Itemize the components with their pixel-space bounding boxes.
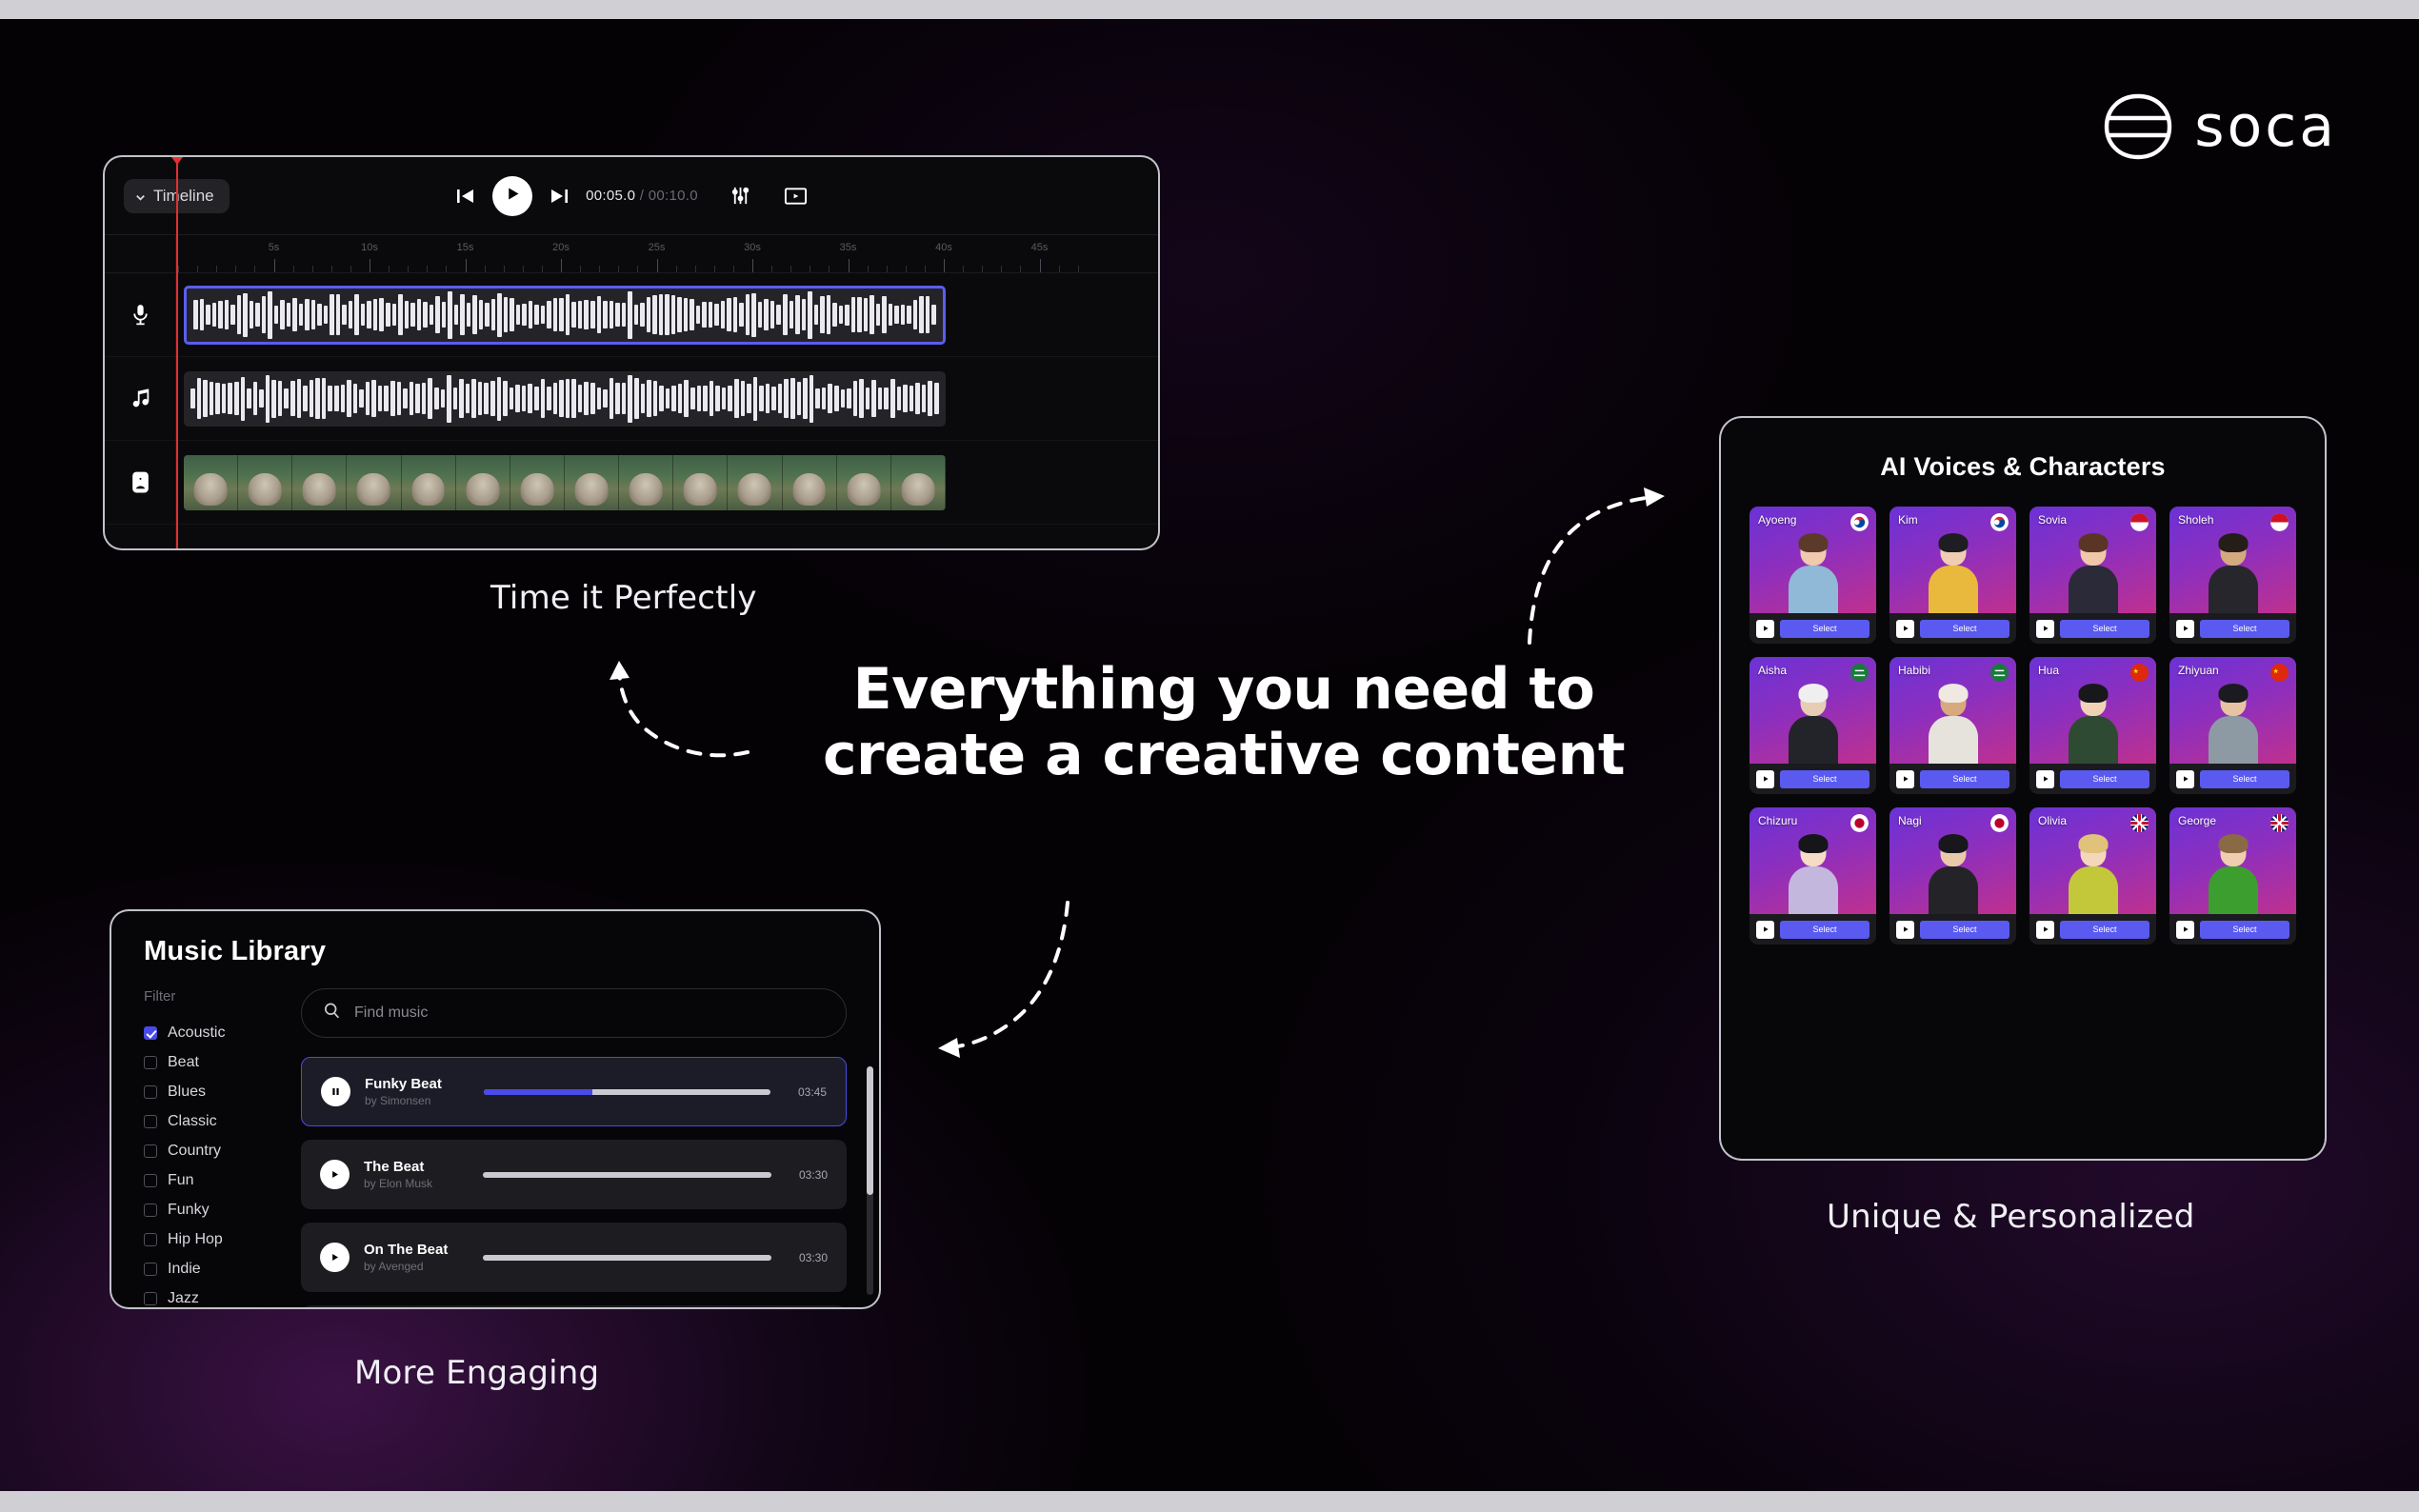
avatar-hair	[1798, 533, 1828, 552]
ruler-tick-minor	[312, 266, 313, 272]
avatar-body	[2209, 566, 2258, 613]
waveform-bar	[371, 380, 376, 418]
waveform-bar	[828, 384, 832, 413]
avatar	[1749, 531, 1876, 613]
timeline-toggle-label: Timeline	[153, 187, 214, 206]
voice-character-name: Ayoeng	[1758, 513, 1796, 527]
checkbox-icon[interactable]	[144, 1056, 157, 1069]
voice-character-name: Aisha	[1758, 664, 1787, 677]
voice-character-card[interactable]: AyoengSelect	[1749, 507, 1876, 644]
select-button[interactable]: Select	[1920, 620, 2009, 638]
filter-list: AcousticBeatBluesClassicCountryFunFunkyH…	[144, 1018, 301, 1309]
avatar-hair	[1938, 684, 1968, 703]
waveform-bar	[926, 296, 930, 334]
waveform-bar	[553, 298, 558, 332]
checkbox-icon[interactable]	[144, 1263, 157, 1276]
ruler-tick-minor	[733, 266, 734, 272]
select-button[interactable]: Select	[2200, 921, 2289, 939]
voice-character-card[interactable]: OliviaSelect	[2029, 807, 2156, 945]
select-button[interactable]: Select	[1780, 620, 1869, 638]
music-track-row[interactable]: A Beatby Darwin03:30	[301, 1305, 847, 1309]
preview-play-button[interactable]	[2036, 620, 2054, 638]
waveform-bar	[386, 303, 390, 327]
waveform-bar	[864, 298, 869, 331]
waveform-bar	[703, 386, 708, 411]
clip-music[interactable]	[184, 371, 946, 427]
waveform-bar	[361, 304, 366, 326]
filmstrip-frame	[402, 455, 456, 510]
waveform-bar	[766, 384, 770, 413]
checkbox-icon[interactable]	[144, 1085, 157, 1099]
music-track-progress-fill	[484, 1089, 592, 1095]
ruler-tick-major	[274, 259, 275, 272]
playhead[interactable]	[176, 157, 178, 548]
waveform-bar	[255, 303, 260, 327]
clip-video[interactable]	[184, 455, 946, 510]
waveform-bar	[878, 388, 883, 409]
waveform-bar	[218, 301, 223, 329]
waveform-bar	[415, 384, 420, 413]
avatar	[1889, 832, 2016, 914]
waveform-bar	[784, 379, 789, 417]
preview-play-button[interactable]	[1756, 620, 1774, 638]
waveform-bar	[503, 381, 508, 415]
filter-item-label: Funky	[168, 1202, 210, 1219]
music-track-row[interactable]: On The Beatby Avenged03:30	[301, 1223, 847, 1292]
preview-play-button[interactable]	[2176, 770, 2194, 788]
waveform-bar	[640, 303, 645, 327]
filter-item[interactable]: Funky	[144, 1195, 301, 1224]
select-button[interactable]: Select	[1780, 770, 1869, 788]
country-flag-icon	[1990, 814, 2009, 832]
voice-character-name: Habibi	[1898, 664, 1930, 677]
waveform-bar	[665, 294, 670, 334]
filter-column: Filter AcousticBeatBluesClassicCountryFu…	[144, 988, 301, 1295]
ruler-tick-major	[561, 259, 562, 272]
avatar	[2169, 531, 2296, 613]
waveform-bar	[317, 304, 322, 326]
select-button[interactable]: Select	[2060, 770, 2149, 788]
track-column: Find music Funky Beatby Simonsen03:45The…	[301, 988, 879, 1295]
letterbox-top	[0, 0, 2419, 19]
preview-play-button[interactable]	[1896, 921, 1914, 939]
waveform-bar	[907, 306, 911, 324]
ruler-tick-minor	[982, 266, 983, 272]
waveform-bar	[697, 386, 702, 411]
lane-music[interactable]	[176, 357, 1158, 441]
voice-character-card[interactable]: AishaSelect	[1749, 657, 1876, 794]
lane-voice[interactable]	[176, 273, 1158, 357]
waveform-bar	[534, 387, 539, 409]
voice-character-card[interactable]: HuaSelect	[2029, 657, 2156, 794]
music-track-progress[interactable]	[483, 1255, 771, 1261]
avatar-hair	[2218, 834, 2248, 853]
checkbox-icon[interactable]	[144, 1144, 157, 1158]
waveform-bar	[529, 301, 533, 329]
waveform-bar	[328, 386, 332, 411]
waveform-bar	[491, 299, 496, 331]
waveform-bar	[890, 379, 895, 417]
preview-play-button[interactable]	[1756, 921, 1774, 939]
voice-card-actions: Select	[1889, 914, 2016, 945]
waveform-bar	[853, 381, 858, 417]
timeline-ruler[interactable]: 5s10s15s20s25s30s35s40s45s	[105, 235, 1158, 273]
page-title: Everything you need to create a creative…	[781, 657, 1667, 788]
music-track-progress[interactable]	[483, 1172, 771, 1178]
filter-item[interactable]: Country	[144, 1136, 301, 1165]
transport-controls: 00:05.0 / 00:10.0	[431, 176, 831, 216]
waveform-bar	[442, 302, 447, 328]
waveform-bar	[460, 294, 465, 334]
timeline-tracks	[105, 273, 1158, 548]
ruler-tick-minor	[580, 266, 581, 272]
play-button[interactable]	[320, 1160, 350, 1189]
arrow-to-voices-icon	[1514, 476, 1667, 647]
waveform-bar	[268, 291, 272, 339]
waveform-bar	[827, 295, 831, 334]
ruler-tick-minor	[197, 266, 198, 272]
waveform-bar	[603, 301, 608, 329]
play-button[interactable]	[492, 176, 532, 216]
avatar-body	[1929, 866, 1978, 914]
voice-card-actions: Select	[2029, 764, 2156, 794]
voice-card-actions: Select	[1749, 613, 1876, 644]
voice-character-card[interactable]: KimSelect	[1889, 507, 2016, 644]
waveform-bar	[715, 386, 720, 410]
ruler-tick-major	[370, 259, 370, 272]
play-button[interactable]	[320, 1243, 350, 1272]
waveform-bar	[714, 304, 719, 327]
music-scrollbar-thumb[interactable]	[867, 1066, 873, 1195]
voice-character-card[interactable]: SholehSelect	[2169, 507, 2296, 644]
waveform-bar	[428, 378, 432, 419]
preview-play-button[interactable]	[2176, 921, 2194, 939]
avatar-body	[1789, 716, 1838, 764]
filmstrip-frame	[673, 455, 728, 510]
waveform-bar	[324, 306, 329, 324]
waveform-bar	[876, 304, 881, 327]
waveform-bar	[193, 300, 198, 329]
filter-item[interactable]: Classic	[144, 1106, 301, 1136]
waveform-bar	[354, 294, 359, 335]
waveform-bar	[790, 378, 795, 420]
waveform-bar	[590, 383, 595, 413]
waveform-bar	[280, 300, 285, 329]
waveform-bar	[541, 306, 546, 324]
waveform-bar	[330, 294, 334, 334]
select-button[interactable]: Select	[1920, 770, 2009, 788]
waveform-bar	[472, 295, 477, 334]
ai-voices-grid: AyoengSelectKimSelectSoviaSelectSholehSe…	[1721, 507, 2325, 945]
waveform-bar	[522, 304, 527, 327]
waveform-bar	[652, 295, 657, 333]
select-button[interactable]: Select	[1780, 921, 1869, 939]
adjustments-icon[interactable]	[730, 185, 751, 207]
music-track-artist: by Avenged	[364, 1260, 469, 1273]
waveform-bar	[659, 386, 664, 411]
waveform-bar	[610, 378, 614, 420]
filter-item-label: Beat	[168, 1054, 199, 1071]
music-track-name: Funky Beat	[365, 1076, 470, 1092]
filter-item[interactable]: Hip Hop	[144, 1224, 301, 1254]
waveform-bar	[790, 301, 794, 329]
waveform-bar	[334, 386, 339, 411]
filter-item[interactable]: Indie	[144, 1254, 301, 1283]
avatar-hair	[1938, 834, 1968, 853]
ruler-tick-minor	[1078, 266, 1079, 272]
avatar	[1889, 682, 2016, 764]
arrow-to-timeline-icon	[571, 647, 752, 771]
waveform-bar	[378, 386, 383, 411]
waveform-bar	[690, 299, 694, 329]
music-track-row[interactable]: The Beatby Elon Musk03:30	[301, 1140, 847, 1209]
waveform-bar	[571, 302, 576, 327]
waveform-bar	[547, 301, 551, 328]
avatar-hair	[2078, 834, 2108, 853]
country-flag-icon	[2130, 664, 2149, 682]
checkbox-icon[interactable]	[144, 1115, 157, 1128]
voice-character-name: Hua	[2038, 664, 2059, 677]
ruler-tick-minor	[676, 266, 677, 272]
waveform-bar	[615, 303, 620, 327]
waveform-bar	[349, 301, 353, 329]
ruler-tick-label: 10s	[361, 242, 378, 253]
waveform-bar	[628, 375, 632, 423]
avatar-hair	[2078, 684, 2108, 703]
waveform-bar	[392, 304, 397, 325]
waveform-bar	[910, 386, 914, 412]
clip-voice[interactable]	[184, 286, 946, 345]
waveform-bar	[727, 298, 731, 332]
waveform-bar	[722, 388, 727, 409]
ruler-tick-major	[752, 259, 753, 272]
waveform-bar	[210, 382, 214, 416]
waveform-bar	[292, 298, 297, 331]
timecode-current: 00:05.0	[586, 188, 635, 204]
voice-card-actions: Select	[1749, 764, 1876, 794]
avatar	[1749, 832, 1876, 914]
checkbox-icon[interactable]	[144, 1026, 157, 1040]
waveform-bar	[467, 303, 471, 326]
voice-character-card[interactable]: ChizuruSelect	[1749, 807, 1876, 945]
brand-logo: soca	[2103, 91, 2337, 162]
waveform-bar	[814, 305, 819, 325]
filmstrip-frame	[837, 455, 891, 510]
voice-card-actions: Select	[2169, 613, 2296, 644]
waveform-bar	[253, 382, 258, 414]
waveform-bar	[247, 388, 251, 408]
select-button[interactable]: Select	[1920, 921, 2009, 939]
waveform-bar	[305, 299, 310, 330]
ruler-tick-minor	[599, 266, 600, 272]
waveform-bar	[882, 296, 887, 334]
country-flag-icon	[1850, 814, 1869, 832]
music-track-name: The Beat	[364, 1159, 469, 1175]
waveform-bar	[678, 384, 683, 412]
lane-video[interactable]	[176, 441, 1158, 525]
skip-forward-icon[interactable]	[549, 186, 570, 207]
waveform-bar	[215, 383, 220, 414]
voice-character-card[interactable]: SoviaSelect	[2029, 507, 2156, 644]
waveform-bar	[405, 301, 410, 329]
filter-label: Filter	[144, 988, 301, 1005]
waveform-bar	[262, 296, 267, 332]
waveform-bar	[471, 379, 476, 418]
select-button[interactable]: Select	[2060, 921, 2149, 939]
ruler-tick-minor	[1020, 266, 1021, 272]
voice-character-card[interactable]: NagiSelect	[1889, 807, 2016, 945]
waveform-bar	[753, 377, 758, 421]
skip-back-icon[interactable]	[455, 186, 476, 207]
music-track-duration: 03:30	[786, 1251, 828, 1264]
waveform-bar	[373, 299, 378, 329]
waveform-bar	[490, 381, 495, 416]
filter-item[interactable]: Acoustic	[144, 1018, 301, 1047]
avatar	[2169, 832, 2296, 914]
voice-card-actions: Select	[1749, 914, 1876, 945]
waveform-bar	[647, 380, 651, 418]
waveform-bar	[751, 293, 756, 337]
waveform-bar	[770, 301, 775, 328]
preview-play-button[interactable]	[2176, 620, 2194, 638]
waveform-bar	[410, 382, 414, 415]
track-icon-music[interactable]	[105, 357, 175, 441]
music-track-row[interactable]: Funky Beatby Simonsen03:45	[301, 1057, 847, 1126]
waveform-bar	[832, 303, 837, 327]
play-icon	[505, 186, 521, 207]
pause-button[interactable]	[321, 1077, 350, 1106]
checkbox-icon[interactable]	[144, 1174, 157, 1187]
waveform-bar	[746, 294, 750, 335]
filter-item[interactable]: Beat	[144, 1047, 301, 1077]
waveform-bar	[522, 386, 527, 411]
waveform-bar	[553, 383, 558, 415]
music-track-list: Funky Beatby Simonsen03:45The Beatby Elo…	[301, 1057, 847, 1309]
music-search-box[interactable]: Find music	[301, 988, 847, 1038]
waveform-bar	[741, 381, 746, 416]
filter-item[interactable]: Jazz	[144, 1283, 301, 1309]
waveform-bar	[310, 380, 314, 416]
waveform-bar	[684, 298, 689, 331]
preview-play-button[interactable]	[1756, 770, 1774, 788]
avatar-body	[1929, 716, 1978, 764]
track-icon-video[interactable]	[105, 441, 175, 525]
waveform-bar	[913, 300, 918, 330]
voice-character-preview: Ayoeng	[1749, 507, 1876, 613]
waveform-bar	[897, 387, 902, 410]
caption-more-engaging: More Engaging	[354, 1354, 599, 1392]
voice-card-actions: Select	[2029, 914, 2156, 945]
voice-character-name: Sovia	[2038, 513, 2067, 527]
ruler-tick-minor	[790, 266, 791, 272]
avatar-hair	[1798, 684, 1828, 703]
waveform-bar	[266, 375, 270, 423]
timeline-panel: Timeline 00:05.0 / 00:10.0	[103, 155, 1160, 550]
ruler-tick-minor	[887, 266, 888, 272]
waveform-bar	[845, 305, 850, 326]
filter-item[interactable]: Fun	[144, 1165, 301, 1195]
ruler-tick-label: 15s	[457, 242, 474, 253]
filter-item-label: Acoustic	[168, 1025, 225, 1042]
voice-character-card[interactable]: GeorgeSelect	[2169, 807, 2296, 945]
select-button[interactable]: Select	[2060, 620, 2149, 638]
avatar-body	[1789, 566, 1838, 613]
avatar-hair	[1798, 834, 1828, 853]
ruler-tick-minor	[925, 266, 926, 272]
preview-play-button[interactable]	[1896, 620, 1914, 638]
preview-play-button[interactable]	[2036, 770, 2054, 788]
music-scrollbar[interactable]	[867, 1066, 873, 1295]
ruler-tick-minor	[331, 266, 332, 272]
checkbox-icon[interactable]	[144, 1233, 157, 1246]
waveform-bar	[857, 297, 862, 331]
ruler-tick-minor	[350, 266, 351, 272]
ruler-tick-minor	[504, 266, 505, 272]
voice-character-name: Kim	[1898, 513, 1918, 527]
waveform-bar	[871, 380, 876, 417]
waveform-bar	[274, 306, 279, 325]
ruler-tick-minor	[695, 266, 696, 272]
waveform-bar	[834, 386, 839, 411]
waveform-bar	[453, 388, 458, 409]
waveform-bar	[259, 389, 264, 408]
select-button[interactable]: Select	[2200, 770, 2289, 788]
waveform-bar	[237, 295, 242, 334]
track-icon-voice[interactable]	[105, 273, 175, 357]
checkbox-icon[interactable]	[144, 1204, 157, 1217]
waveform-bar	[398, 294, 403, 336]
voice-character-card[interactable]: HabibiSelect	[1889, 657, 2016, 794]
select-button[interactable]: Select	[2200, 620, 2289, 638]
track-lanes	[176, 273, 1158, 548]
avatar	[2029, 832, 2156, 914]
avatar	[2029, 682, 2156, 764]
filter-item-label: Fun	[168, 1172, 194, 1189]
letterbox-bottom	[0, 1491, 2419, 1512]
music-track-artist: by Elon Musk	[364, 1177, 469, 1190]
checkbox-icon[interactable]	[144, 1292, 157, 1305]
waveform-bar	[870, 295, 874, 334]
waveform-bar	[728, 386, 732, 411]
waveform-bar	[584, 300, 589, 329]
waveform-bar	[634, 378, 639, 419]
ruler-tick-label: 5s	[269, 242, 280, 253]
waveform-bar	[342, 305, 347, 325]
ruler-tick-label: 25s	[649, 242, 666, 253]
ruler-tick-minor	[178, 266, 179, 272]
voice-character-preview: Hua	[2029, 657, 2156, 764]
headline-line-1: Everything you need to	[781, 657, 1667, 723]
music-track-progress[interactable]	[484, 1089, 770, 1095]
export-video-icon[interactable]	[784, 186, 808, 207]
waveform-bar	[359, 389, 364, 408]
waveform-bar	[839, 306, 844, 324]
avatar	[2029, 531, 2156, 613]
preview-play-button[interactable]	[1896, 770, 1914, 788]
waveform-bar	[764, 299, 769, 330]
waveform-voice	[187, 288, 943, 342]
waveform-bar	[566, 294, 570, 335]
music-track-duration: 03:45	[785, 1085, 827, 1099]
country-flag-icon	[2270, 664, 2289, 682]
voice-character-card[interactable]: ZhiyuanSelect	[2169, 657, 2296, 794]
avatar-body	[2069, 716, 2118, 764]
country-flag-icon	[2270, 513, 2289, 531]
avatar	[1749, 682, 1876, 764]
filter-item[interactable]: Blues	[144, 1077, 301, 1106]
preview-play-button[interactable]	[2036, 921, 2054, 939]
track-icon-gutter	[105, 273, 176, 548]
